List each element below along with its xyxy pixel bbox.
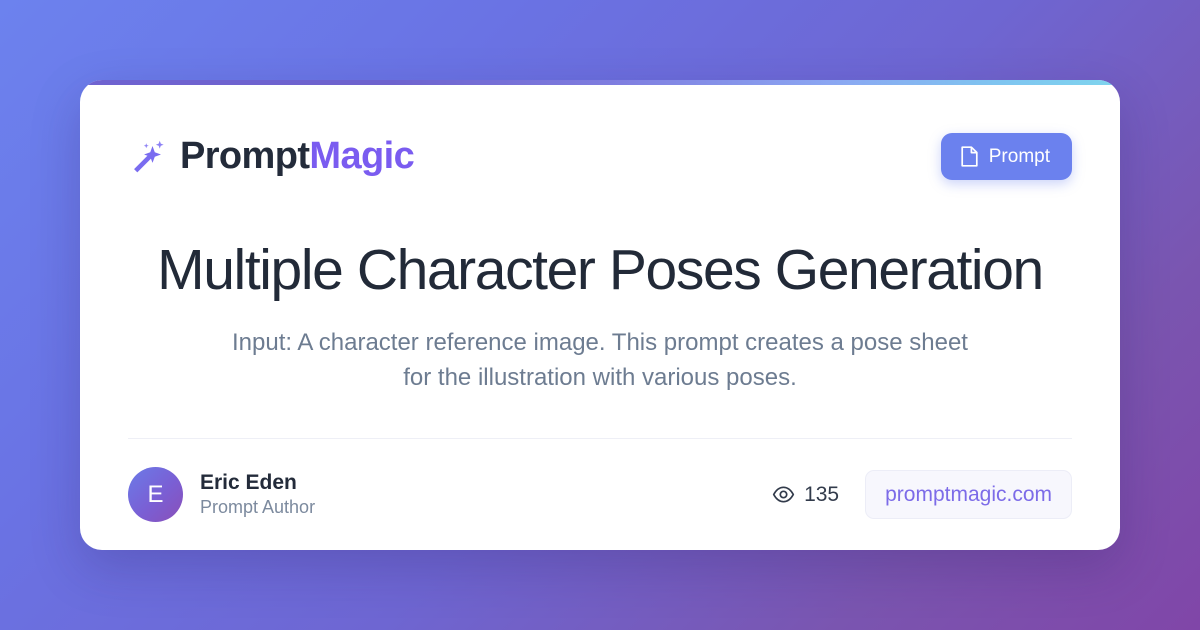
card-body: Multiple Character Poses Generation Inpu…: [128, 184, 1072, 438]
card-footer: E Eric Eden Prompt Author 135: [128, 438, 1072, 550]
page-title: Multiple Character Poses Generation: [157, 240, 1043, 300]
prompt-button-label: Prompt: [989, 147, 1050, 166]
document-icon: [960, 146, 979, 167]
card-inner: PromptMagic Prompt Multiple Character Po…: [80, 80, 1120, 550]
view-count-block: 135: [772, 483, 839, 506]
brand-name-accent: Magic: [309, 135, 414, 177]
og-preview-card: PromptMagic Prompt Multiple Character Po…: [80, 80, 1120, 550]
page-subtitle: Input: A character reference image. This…: [230, 326, 970, 395]
author-text: Eric Eden Prompt Author: [200, 471, 315, 518]
author-block[interactable]: E Eric Eden Prompt Author: [128, 467, 315, 522]
avatar: E: [128, 467, 183, 522]
brand-name-primary: Prompt: [180, 135, 309, 177]
magic-wand-icon: [128, 137, 166, 175]
avatar-initial: E: [147, 481, 163, 509]
eye-icon: [772, 483, 795, 506]
brand-name: PromptMagic: [180, 137, 414, 175]
author-role: Prompt Author: [200, 498, 315, 518]
author-name: Eric Eden: [200, 471, 315, 494]
domain-badge[interactable]: promptmagic.com: [865, 470, 1072, 519]
brand-logo[interactable]: PromptMagic: [128, 137, 414, 175]
view-count: 135: [804, 484, 839, 505]
card-header: PromptMagic Prompt: [128, 128, 1072, 184]
prompt-button[interactable]: Prompt: [941, 133, 1072, 180]
footer-right: 135 promptmagic.com: [772, 470, 1072, 519]
